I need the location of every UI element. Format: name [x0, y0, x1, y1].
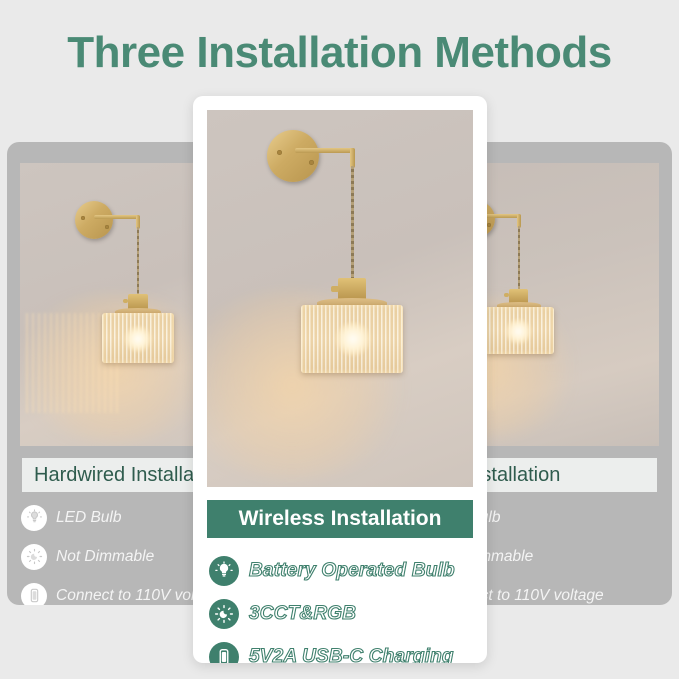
bulb-glow — [335, 322, 371, 356]
feature-label: Not Dimmable — [56, 548, 154, 566]
feature-label: Battery Operated Bulb — [249, 560, 455, 582]
bulb-glow — [505, 319, 532, 344]
backplate-screw — [277, 150, 282, 155]
backplate-screw — [309, 160, 314, 165]
panel-wireless: Wireless Installation Battery Operated B… — [193, 96, 487, 663]
battery-icon — [21, 583, 47, 606]
features-wireless: Battery Operated Bulb 3CCT&RGB — [209, 552, 455, 663]
hanging-cord — [518, 226, 520, 291]
infographic-root: Three Installation Methods Hardwired Ins… — [0, 0, 679, 679]
socket-switch — [123, 299, 128, 303]
socket-switch — [331, 286, 339, 292]
bulb-icon — [21, 505, 47, 531]
feature-row: 3CCT&RGB — [209, 595, 455, 633]
sconce-arm — [295, 148, 355, 153]
hanging-cord — [351, 166, 354, 281]
banner-wireless: Wireless Installation — [207, 500, 473, 538]
backplate-screw — [487, 223, 491, 227]
banner-wireless-text: Wireless Installation — [239, 507, 442, 531]
bulb-icon — [209, 556, 239, 586]
feature-label: 3CCT&RGB — [249, 603, 356, 625]
dimmer-icon — [21, 544, 47, 570]
dimmer-icon — [209, 599, 239, 629]
hanging-cord — [137, 227, 139, 297]
wall-backplate — [75, 201, 113, 239]
lamp-socket — [338, 278, 366, 300]
sconce-arm — [94, 215, 140, 219]
feature-label: LED Bulb — [56, 509, 121, 527]
feature-row: Battery Operated Bulb — [209, 552, 455, 590]
wall-backplate — [267, 130, 319, 182]
socket-switch — [504, 293, 509, 297]
page-title: Three Installation Methods — [0, 28, 679, 78]
sconce-arm-drop — [350, 148, 355, 168]
bulb-glow — [124, 326, 152, 352]
feature-label: 5V2A USB-C Charging — [249, 646, 454, 663]
photo-wireless — [207, 110, 473, 487]
backplate-screw — [105, 225, 109, 229]
battery-icon — [209, 642, 239, 663]
backplate-screw — [81, 216, 85, 220]
feature-row: 5V2A USB-C Charging — [209, 638, 455, 663]
